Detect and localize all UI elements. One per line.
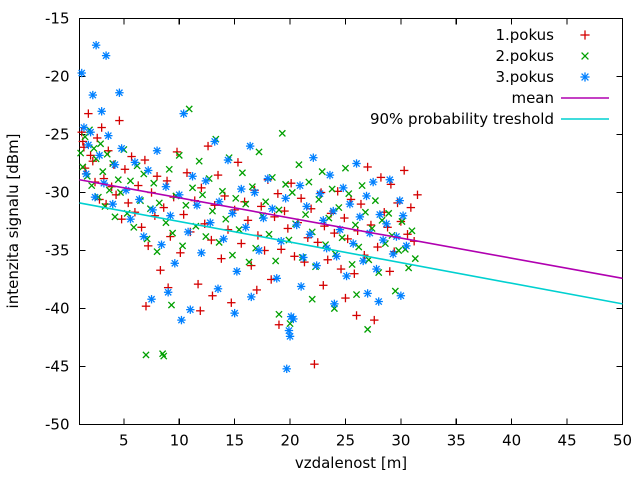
y-tick-label: -40 (45, 300, 70, 318)
data-point-star (372, 265, 380, 273)
data-point-star (177, 316, 185, 324)
y-tick-label: -45 (45, 358, 70, 376)
data-point-star (402, 242, 410, 250)
x-tick-label: 5 (119, 432, 129, 450)
x-tick-label: 25 (336, 432, 355, 450)
data-point-star (197, 249, 205, 257)
x-tick-label: 20 (281, 432, 300, 450)
data-point-star (312, 261, 320, 269)
data-point-star (375, 297, 383, 305)
chart-canvas: -15-20-25-30-35-40-45-50 510152025303540… (0, 0, 640, 480)
data-point-star (283, 365, 291, 373)
data-point-star (237, 185, 245, 193)
data-point-star (246, 142, 254, 150)
data-point-star (171, 259, 179, 267)
data-point-star (382, 220, 390, 228)
data-point-star (299, 253, 307, 261)
data-point-star (78, 69, 86, 77)
data-point-star (386, 176, 394, 184)
y-tick-label: -25 (45, 126, 70, 144)
x-tick-label: 10 (170, 432, 189, 450)
data-point-star (184, 228, 192, 236)
data-point-star (230, 309, 238, 317)
data-point-star (399, 212, 407, 220)
data-point-star (264, 174, 272, 182)
legend-label: 1.pokus (495, 26, 554, 44)
y-tick-label: -30 (45, 184, 70, 202)
legend-label: 2.pokus (495, 47, 554, 65)
data-point-star (224, 156, 232, 164)
legend-label: 3.pokus (495, 68, 554, 86)
scatter-plot-figure: -15-20-25-30-35-40-45-50 510152025303540… (0, 0, 640, 480)
data-point-star (293, 221, 301, 229)
data-point-star (111, 160, 119, 168)
data-point-star (233, 267, 241, 275)
x-tick-label: 45 (558, 432, 577, 450)
data-point-star (306, 230, 314, 238)
data-point-star (131, 158, 139, 166)
data-point-star (86, 128, 94, 136)
data-point-star (95, 151, 103, 159)
data-point-star (219, 235, 227, 243)
data-point-star (82, 170, 90, 178)
data-point-star (359, 257, 367, 265)
data-point-star (330, 300, 338, 308)
data-point-star (89, 91, 97, 99)
y-tick-label: -15 (45, 10, 70, 28)
data-point-star (268, 205, 276, 213)
data-point-star (104, 131, 112, 139)
legend-label: 90% probability treshold (370, 110, 554, 128)
data-point-star (255, 246, 263, 254)
data-point-star (346, 200, 354, 208)
data-point-star (250, 188, 258, 196)
x-axis-title: vzdalenost [m] (295, 454, 407, 472)
data-point-star (80, 123, 88, 131)
data-point-star (339, 184, 347, 192)
x-tick-label: 30 (391, 432, 410, 450)
data-point-star (289, 315, 297, 323)
data-point-star (352, 159, 360, 167)
data-point-star (285, 326, 293, 334)
y-tick-label: -20 (45, 68, 70, 86)
data-point-star (153, 147, 161, 155)
data-point-star (326, 171, 334, 179)
data-point-star (148, 206, 156, 214)
data-point-star (91, 193, 99, 201)
data-point-star (115, 89, 123, 97)
x-tick-label: 50 (613, 432, 632, 450)
data-point-star (102, 51, 110, 59)
data-point-star (144, 166, 152, 174)
data-point-star (349, 239, 357, 247)
data-point-star (164, 288, 172, 296)
data-point-star (302, 202, 310, 210)
data-point-star (397, 292, 405, 300)
data-point-star (362, 192, 370, 200)
data-point-star (186, 305, 194, 313)
data-point-star (332, 252, 340, 260)
data-point-star (210, 137, 218, 145)
data-point-star (147, 295, 155, 303)
data-point-star (369, 178, 377, 186)
data-point-star (316, 189, 324, 197)
data-point-star (202, 177, 210, 185)
data-point-star (342, 272, 350, 280)
data-point-star (247, 293, 255, 301)
data-point-star (214, 285, 222, 293)
x-tick-label: 40 (502, 432, 521, 450)
data-point-star (84, 141, 92, 149)
data-point-star (396, 196, 404, 204)
data-point-star (389, 250, 397, 258)
data-point-star (329, 207, 337, 215)
data-point-star (117, 144, 125, 152)
data-point-star (206, 218, 214, 226)
data-point-star (179, 109, 187, 117)
legend-marker-swatch (580, 72, 589, 81)
data-point-star (109, 200, 117, 208)
data-point-star (309, 154, 317, 162)
data-point-star (356, 213, 364, 221)
data-point-star (297, 282, 305, 290)
legend-label: mean (511, 89, 554, 107)
data-point-star (188, 172, 196, 180)
data-point-star (92, 41, 100, 49)
data-point-star (242, 223, 250, 231)
x-tick-label: 15 (225, 432, 244, 450)
y-tick-label: -35 (45, 242, 70, 260)
y-axis-title: intenzita signalu [dBm] (4, 134, 22, 309)
data-point-star (162, 183, 170, 191)
y-tick-label: -50 (45, 416, 70, 434)
data-point-star (259, 214, 267, 222)
data-point-star (296, 181, 304, 189)
data-point-star (281, 194, 289, 202)
data-point-star (126, 215, 134, 223)
data-point-star (97, 107, 105, 115)
data-point-star (363, 289, 371, 297)
data-point-star (157, 241, 165, 249)
data-point-star (135, 195, 143, 203)
data-point-star (140, 232, 148, 240)
x-tick-label: 35 (447, 432, 466, 450)
data-point-star (379, 236, 387, 244)
data-point-star (376, 210, 384, 218)
data-point-star (273, 274, 281, 282)
data-point-star (286, 332, 294, 340)
data-point-star (228, 209, 236, 217)
